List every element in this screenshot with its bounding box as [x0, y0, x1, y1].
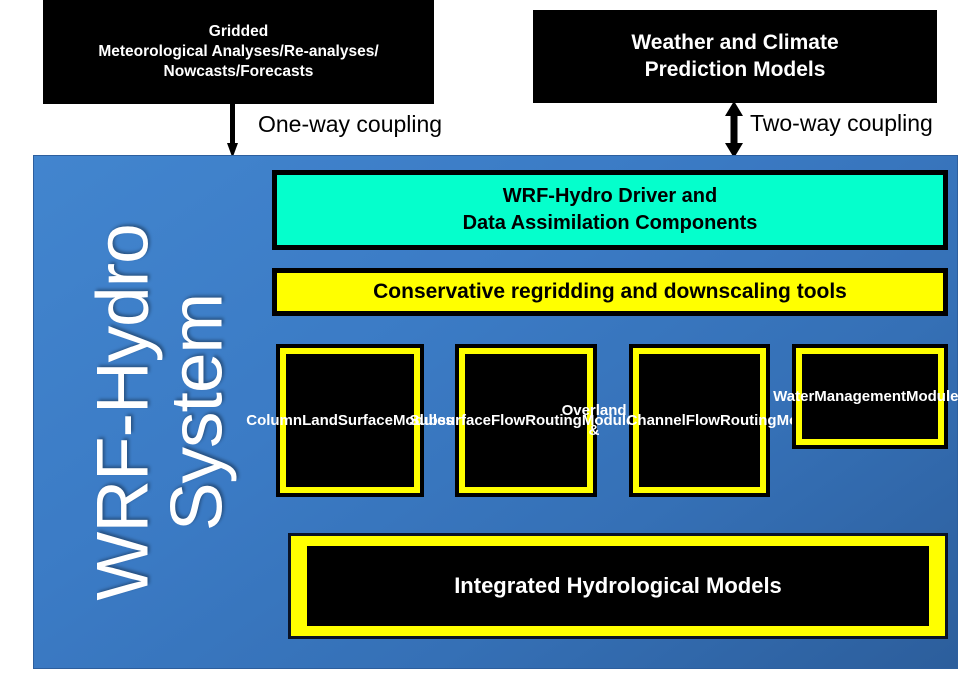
overland-channel-flow-routing-modules-box: Overland &ChannelFlowRoutingModules — [629, 344, 770, 497]
weather-models-label: Weather and Climate Prediction Models — [631, 30, 838, 84]
gridded-input-line-3: Nowcasts/Forecasts — [98, 62, 378, 82]
weather-models-line-2: Prediction Models — [631, 57, 838, 84]
gridded-meteorological-input-box: Gridded Meteorological Analyses/Re-analy… — [43, 0, 434, 104]
regridding-label: Conservative regridding and downscaling … — [373, 280, 847, 304]
weather-models-line-1: Weather and Climate — [631, 30, 838, 57]
water-management-modules-label: WaterManagementModules — [802, 354, 938, 439]
one-way-coupling-arrow-icon — [227, 104, 238, 158]
gridded-input-line-1: Gridded — [98, 22, 378, 42]
system-title-line-2: System — [161, 224, 235, 600]
gridded-input-line-2: Meteorological Analyses/Re-analyses/ — [98, 42, 378, 62]
system-title-line-1: WRF-Hydro — [87, 224, 161, 600]
driver-label: WRF-Hydro Driver and Data Assimilation C… — [463, 183, 758, 237]
column-land-surface-modules-box: ColumnLandSurfaceModules — [276, 344, 424, 497]
gridded-input-label: Gridded Meteorological Analyses/Re-analy… — [98, 22, 378, 81]
one-way-coupling-label: One-way coupling — [258, 113, 442, 136]
wrf-hydro-system-title-rotated: WRF-Hydro System — [87, 224, 236, 600]
two-way-coupling-label: Two-way coupling — [750, 112, 933, 135]
driver-line-1: WRF-Hydro Driver and — [463, 183, 758, 210]
weather-climate-prediction-models-box: Weather and Climate Prediction Models — [533, 10, 937, 103]
column-land-surface-modules-label: ColumnLandSurfaceModules — [286, 354, 414, 487]
wrf-hydro-driver-data-assimilation-box: WRF-Hydro Driver and Data Assimilation C… — [272, 170, 948, 250]
two-way-coupling-arrow-icon — [723, 101, 745, 158]
conservative-regridding-downscaling-tools-box: Conservative regridding and downscaling … — [272, 268, 948, 316]
wrf-hydro-system-title: WRF-Hydro System — [46, 168, 276, 656]
overland-channel-flow-routing-modules-label: Overland &ChannelFlowRoutingModules — [639, 354, 760, 487]
integrated-hydrological-models-box: Integrated Hydrological Models — [288, 533, 948, 639]
integrated-hydrological-models-label: Integrated Hydrological Models — [307, 546, 929, 626]
water-management-modules-box: WaterManagementModules — [792, 344, 948, 449]
driver-line-2: Data Assimilation Components — [463, 210, 758, 237]
